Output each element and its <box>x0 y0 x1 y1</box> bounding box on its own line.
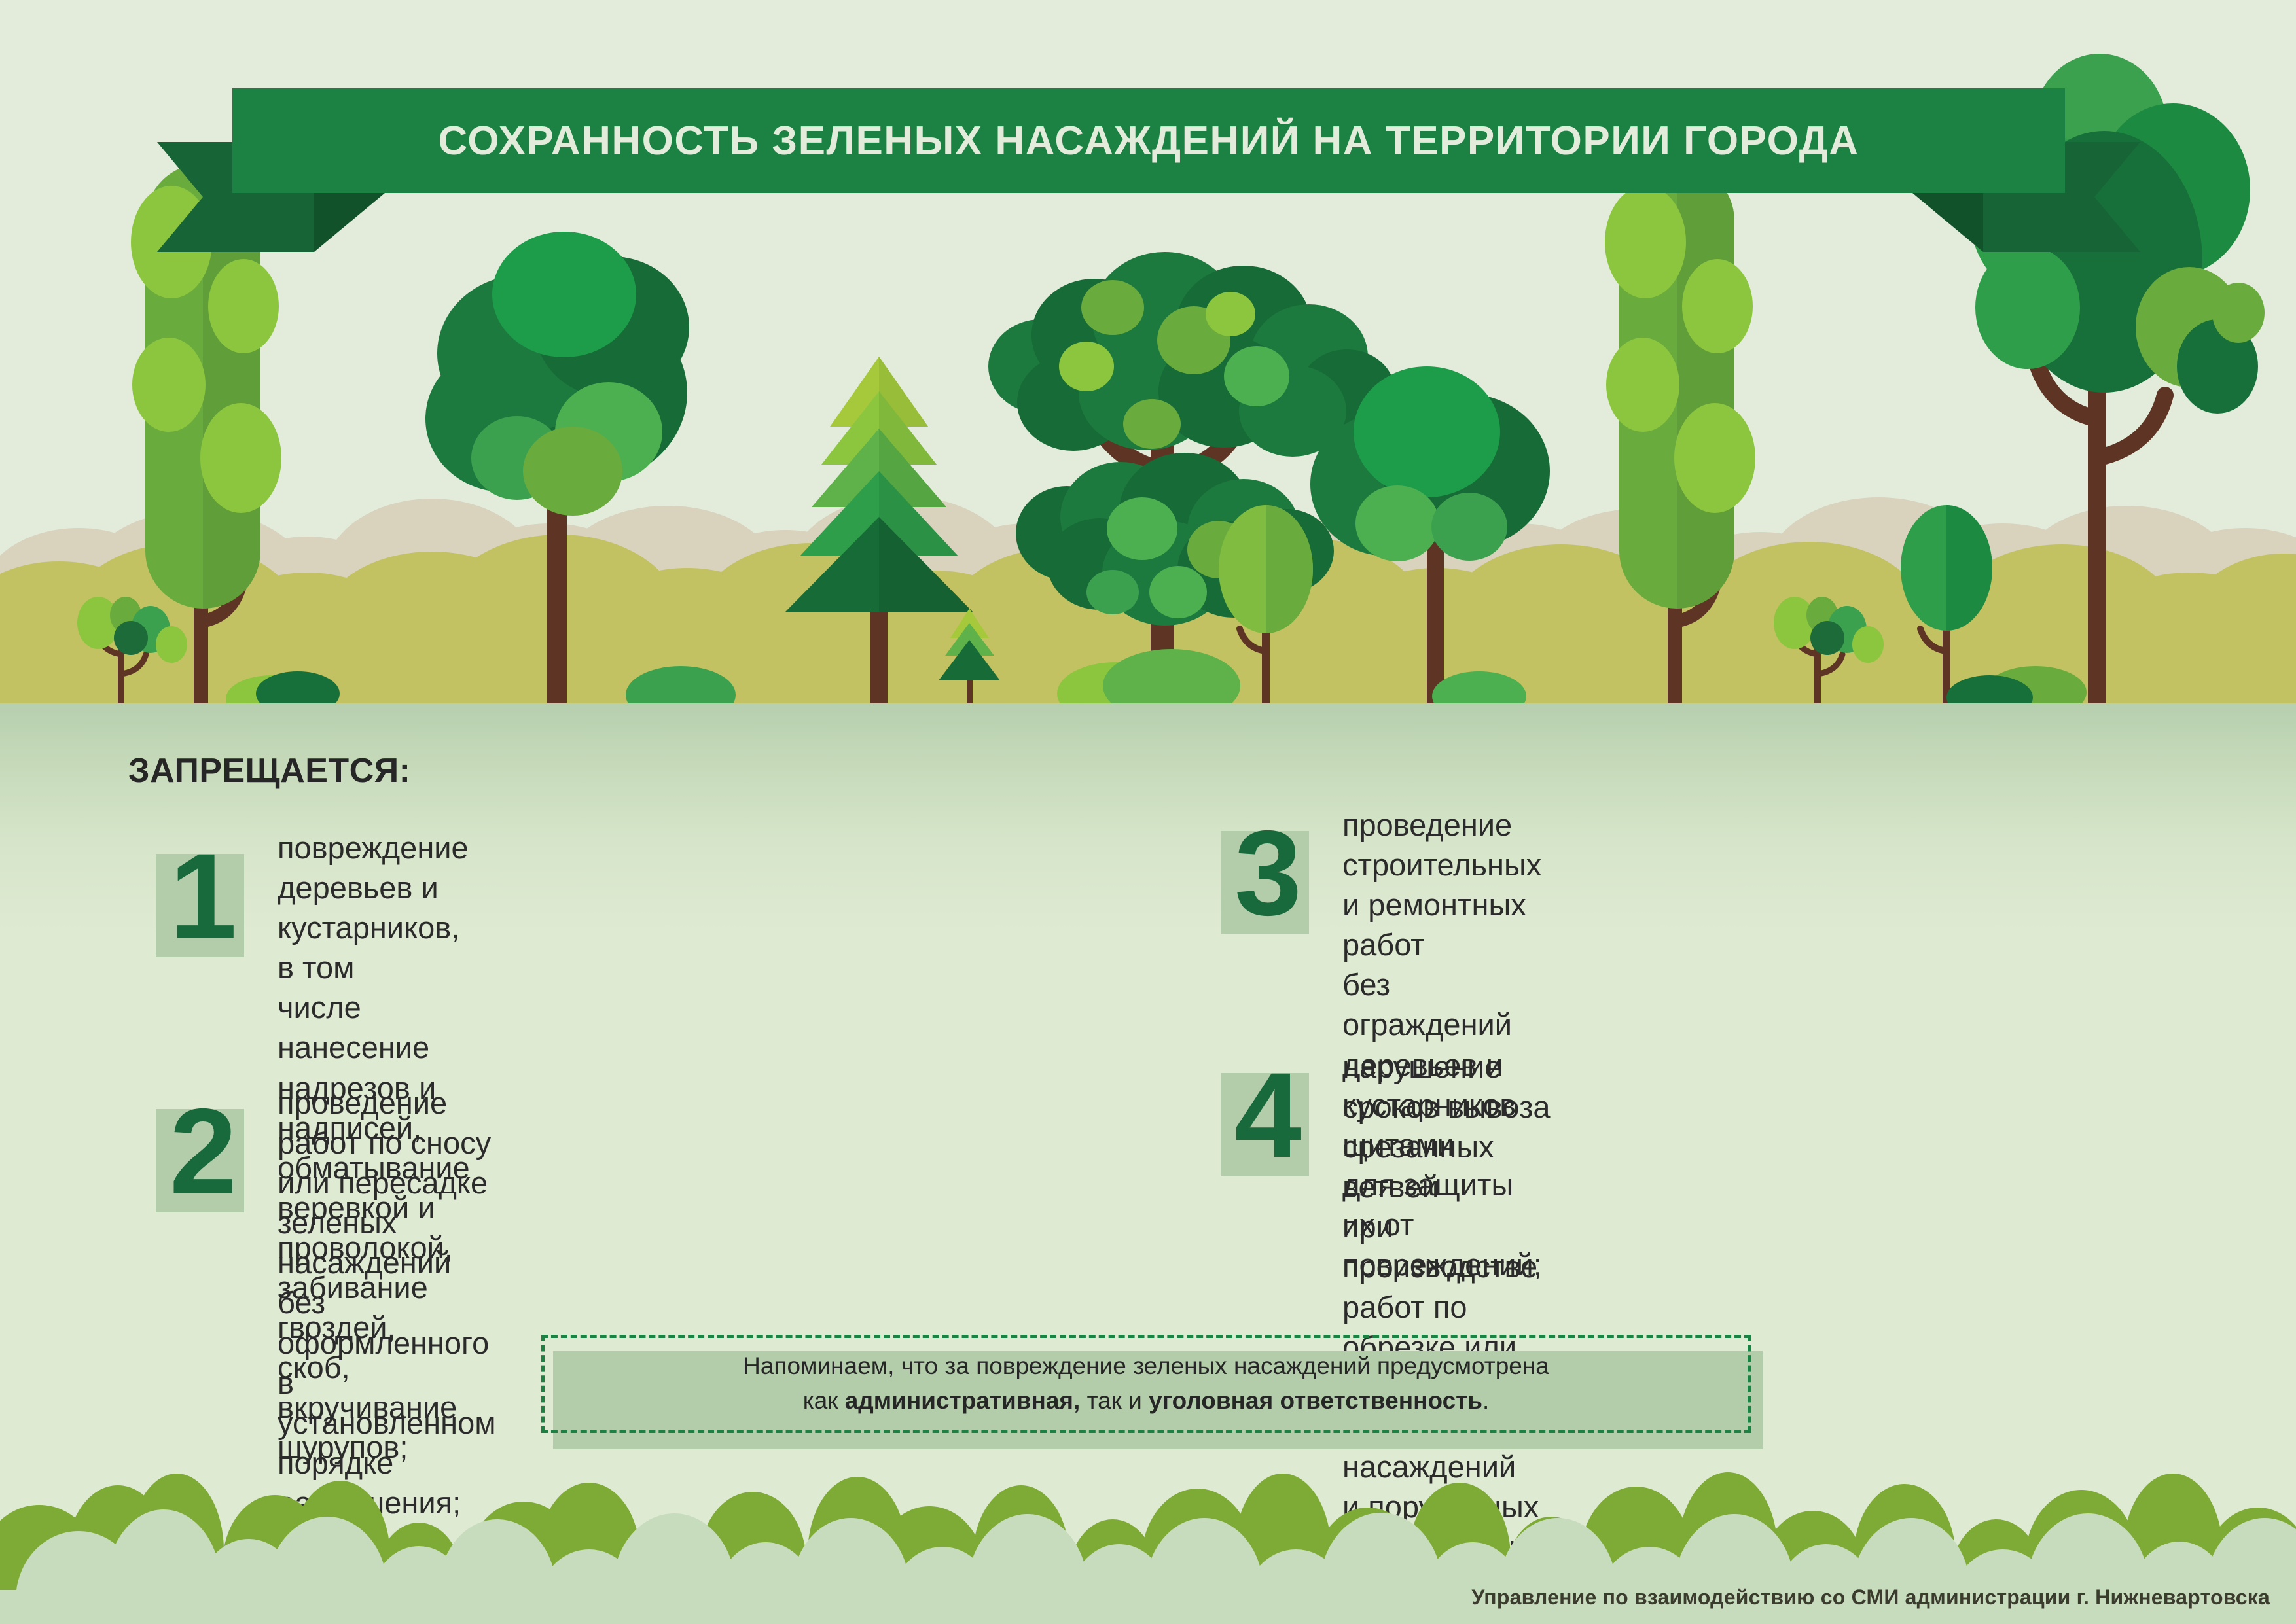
notice-bold-administrative: административная, <box>845 1387 1081 1414</box>
notice-suffix: . <box>1482 1387 1489 1414</box>
footer-credit: Управление по взаимодействию со СМИ адми… <box>1471 1585 2270 1610</box>
notice-middle: так и <box>1080 1387 1149 1414</box>
rule-number-glyph: 3 <box>1214 798 1322 949</box>
rule-number-4: 4 <box>1214 1040 1322 1191</box>
rule-number-1: 1 <box>149 821 257 972</box>
rule-number-glyph: 1 <box>149 821 257 972</box>
notice-line-2: как административная, так и уголовная от… <box>803 1384 1490 1419</box>
notice-text: Напоминаем, что за повреждение зеленых н… <box>541 1335 1751 1433</box>
rule-text-2: проведение работ по сносу или пересадке … <box>278 1083 496 1523</box>
forbidden-heading: ЗАПРЕЩАЕТСЯ: <box>128 751 410 790</box>
rule-number-3: 3 <box>1214 798 1322 949</box>
poster-title: СОХРАННОСТЬ ЗЕЛЕНЫХ НАСАЖДЕНИЙ НА ТЕРРИТ… <box>157 88 2140 193</box>
notice-prefix: как <box>803 1387 845 1414</box>
rules-list: 1 повреждение деревьев и кустарников, в … <box>0 821 2296 1292</box>
rule-number-2: 2 <box>149 1076 257 1227</box>
title-ribbon: СОХРАННОСТЬ ЗЕЛЕНЫХ НАСАЖДЕНИЙ НА ТЕРРИТ… <box>157 88 2140 258</box>
liability-notice: Напоминаем, что за повреждение зеленых н… <box>541 1335 1751 1433</box>
infographic-poster: СОХРАННОСТЬ ЗЕЛЕНЫХ НАСАЖДЕНИЙ НА ТЕРРИТ… <box>0 0 2296 1624</box>
notice-bold-criminal: уголовная ответственность <box>1149 1387 1482 1414</box>
notice-line-1: Напоминаем, что за повреждение зеленых н… <box>743 1349 1549 1384</box>
rule-number-glyph: 2 <box>149 1076 257 1227</box>
rule-number-glyph: 4 <box>1214 1040 1322 1191</box>
